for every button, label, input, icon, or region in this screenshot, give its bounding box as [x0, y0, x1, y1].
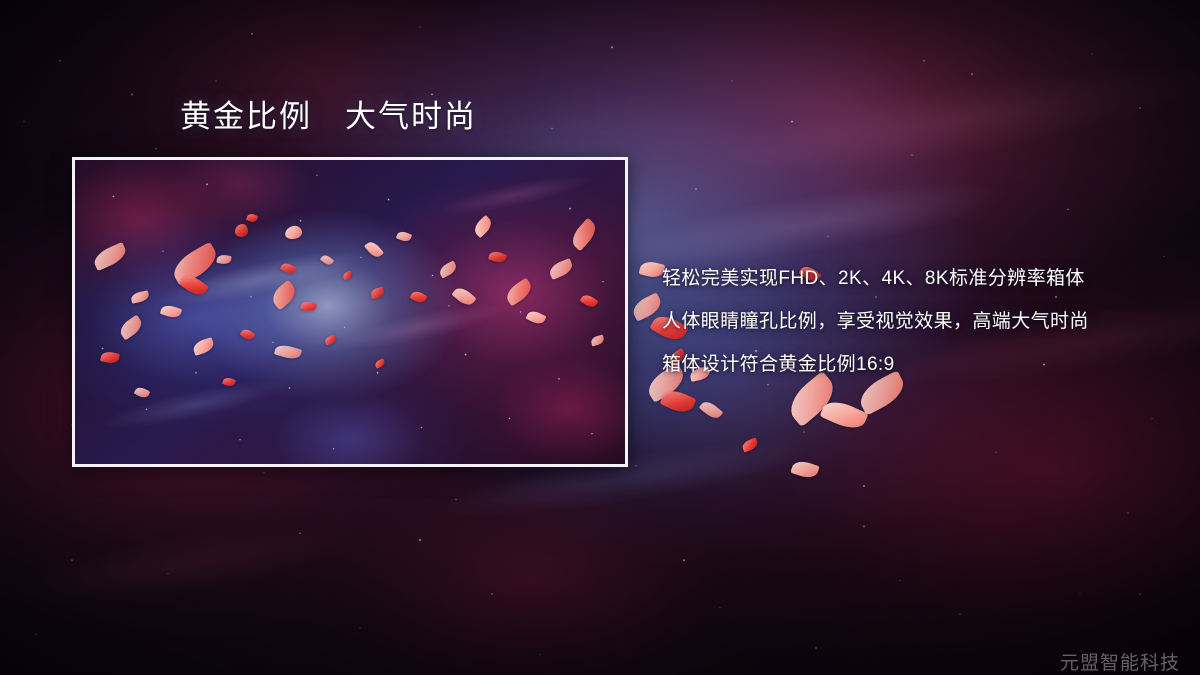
petal: [568, 218, 601, 252]
petal: [160, 303, 182, 320]
petal: [525, 309, 546, 327]
petal: [547, 258, 574, 280]
petal: [130, 290, 150, 304]
petal: [274, 343, 302, 362]
body-line-2: 人体眼睛瞳孔比例，享受视觉效果，高端大气时尚: [662, 300, 1162, 343]
petal: [324, 335, 337, 346]
petal: [590, 335, 605, 347]
photo-petal-group: [75, 160, 625, 464]
petal: [240, 327, 256, 342]
watermark-text: 元盟智能科技: [1060, 648, 1180, 675]
petal: [91, 242, 129, 271]
page-title: 黄金比例 大气时尚: [180, 101, 477, 134]
petal: [580, 292, 599, 309]
petal: [320, 253, 334, 267]
petal: [370, 287, 385, 299]
petal: [216, 254, 231, 265]
petal: [246, 212, 258, 223]
petal: [437, 260, 458, 278]
body-line-3: 箱体设计符合黄金比例16:9: [662, 343, 1162, 386]
petal: [179, 272, 209, 299]
presentation-slide: 黄金比例 大气时尚 轻松完美实现FHD、2K、4K、8K标准分辨率箱体 人体眼睛…: [0, 0, 1200, 675]
petal: [451, 284, 476, 308]
petal: [374, 358, 386, 368]
petal: [222, 376, 236, 388]
petal: [300, 300, 317, 312]
body-line-1: 轻松完美实现FHD、2K、4K、8K标准分辨率箱体: [662, 257, 1162, 300]
petal: [192, 337, 216, 356]
petal: [396, 230, 412, 244]
body-text-block: 轻松完美实现FHD、2K、4K、8K标准分辨率箱体 人体眼睛瞳孔比例，享受视觉效…: [662, 257, 1162, 386]
petal: [280, 261, 297, 276]
petal: [364, 239, 384, 260]
petal: [117, 315, 145, 341]
petal: [268, 280, 299, 311]
petal: [471, 215, 494, 238]
petal: [235, 224, 248, 237]
petal: [503, 278, 535, 307]
framed-photo: [72, 157, 628, 467]
petal: [410, 289, 428, 305]
petal: [342, 271, 353, 281]
petal: [134, 385, 151, 400]
petal: [284, 225, 303, 240]
petal: [488, 250, 507, 265]
petal: [168, 242, 222, 287]
petal: [100, 350, 120, 365]
